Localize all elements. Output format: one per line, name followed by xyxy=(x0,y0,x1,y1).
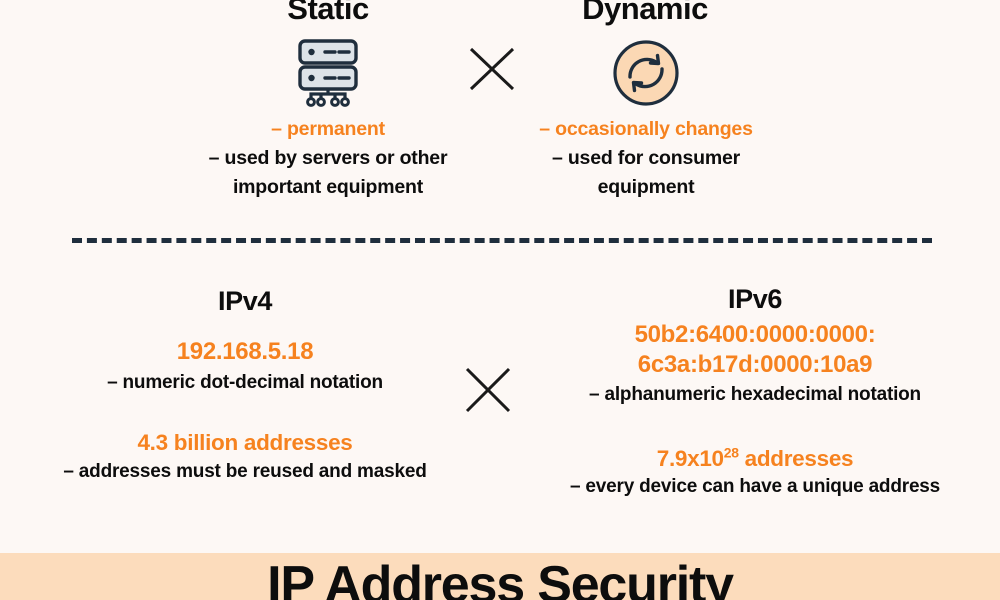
ipv6-address-count: 7.9x1028 addresses xyxy=(600,445,910,473)
static-line-2: – used by servers or other xyxy=(178,144,478,173)
ipv4-count-note: – addresses must be reused and masked xyxy=(20,459,470,485)
ipv4-address: 192.168.5.18 xyxy=(120,337,370,367)
dynamic-line-2: – used for consumer xyxy=(510,144,782,173)
server-rack-icon xyxy=(288,36,368,108)
ipv6-count-note: – every device can have a unique address xyxy=(520,474,990,500)
section-divider xyxy=(72,238,932,243)
static-heading: Static xyxy=(228,0,428,24)
ipv4-notation-note: – numeric dot-decimal notation xyxy=(65,370,425,396)
x-mark-icon xyxy=(464,366,512,419)
ipv6-count-suffix: addresses xyxy=(739,446,854,471)
ipv6-heading: IPv6 xyxy=(655,285,855,313)
ipv6-count-mantissa: 7.9x10 xyxy=(657,446,724,471)
ipv4-address-count: 4.3 billion addresses xyxy=(105,429,385,457)
bottom-banner: IP Address Security xyxy=(0,553,1000,600)
ipv6-address-line-1: 50b2:6400:0000:0000: xyxy=(600,320,910,350)
refresh-cycle-icon xyxy=(611,38,681,108)
ipv6-notation-note: – alphanumeric hexadecimal notation xyxy=(540,382,970,408)
ipv6-address-line-2: 6c3a:b17d:0000:10a9 xyxy=(600,350,910,380)
static-description: – permanent – used by servers or other i… xyxy=(178,115,478,202)
dynamic-line-3: equipment xyxy=(510,173,782,202)
x-mark-icon xyxy=(468,46,516,97)
dynamic-description: – occasionally changes – used for consum… xyxy=(510,115,782,202)
bottom-banner-title: IP Address Security xyxy=(0,559,1000,600)
dynamic-heading: Dynamic xyxy=(545,0,745,24)
dynamic-line-1: – occasionally changes xyxy=(510,115,782,144)
static-line-3: important equipment xyxy=(178,173,478,202)
infographic-canvas: Static – permanent – used by servers or … xyxy=(0,0,1000,600)
ipv6-count-exponent: 28 xyxy=(724,445,739,461)
ipv6-address: 50b2:6400:0000:0000: 6c3a:b17d:0000:10a9 xyxy=(600,320,910,380)
static-line-1: – permanent xyxy=(178,115,478,144)
ipv4-heading: IPv4 xyxy=(145,287,345,315)
